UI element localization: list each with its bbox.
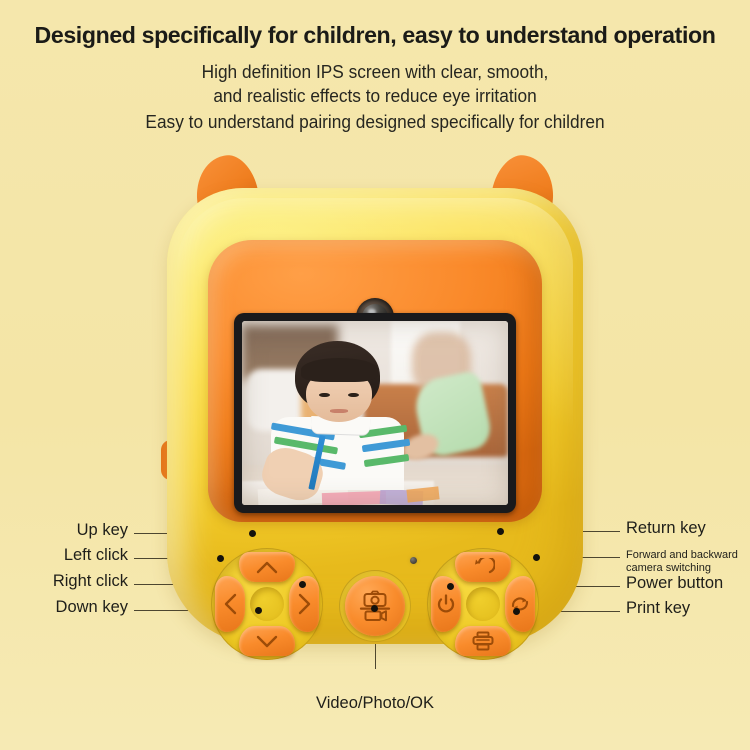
leader-dot-left-click (217, 555, 224, 562)
up-key-button[interactable] (239, 552, 295, 582)
leader-dot-return-key (497, 528, 504, 535)
callout-label-return-key: Return key (626, 519, 706, 538)
power-button[interactable] (431, 576, 461, 632)
camera-switch-button[interactable] (505, 576, 535, 632)
callout-label-camera-switch: Forward and backward camera switching (626, 549, 746, 574)
function-button-cluster (427, 548, 539, 660)
subtitle-line-2: and realistic effects to reduce eye irri… (15, 86, 735, 107)
print-key-button[interactable] (455, 626, 511, 656)
callout-label-right-click: Right click (14, 572, 128, 591)
ips-screen (242, 321, 508, 505)
callout-label-print-key: Print key (626, 599, 690, 618)
leader-dot-video-photo-ok (371, 605, 378, 612)
down-key-button[interactable] (239, 626, 295, 656)
page-title: Designed specifically for children, easy… (6, 22, 745, 49)
return-key-button[interactable] (455, 552, 511, 582)
subtitle-line-3: Easy to understand pairing designed spec… (15, 112, 735, 133)
camera-product-image (167, 150, 583, 644)
callout-label-power-button: Power button (626, 574, 723, 593)
callout-label-up-key: Up key (20, 521, 128, 540)
status-led-indicator (410, 557, 417, 564)
callout-label-video-photo-ok: Video/Photo/OK (0, 694, 750, 713)
screen-bezel (234, 313, 516, 513)
leader-dot-print-key (513, 608, 520, 615)
leader-dot-camera-switch (533, 554, 540, 561)
leader-dot-right-click (299, 581, 306, 588)
subtitle-line-1: High definition IPS screen with clear, s… (15, 62, 735, 83)
leader-dot-down-key (255, 607, 262, 614)
leader-dot-power-button (447, 583, 454, 590)
camera-body-shell (167, 188, 583, 644)
callout-label-left-click: Left click (20, 546, 128, 565)
dpad-left-cluster (211, 548, 323, 660)
leader-dot-up-key (249, 530, 256, 537)
left-click-button[interactable] (215, 576, 245, 632)
callout-label-down-key: Down key (14, 598, 128, 617)
infographic-page: Designed specifically for children, easy… (0, 0, 750, 750)
